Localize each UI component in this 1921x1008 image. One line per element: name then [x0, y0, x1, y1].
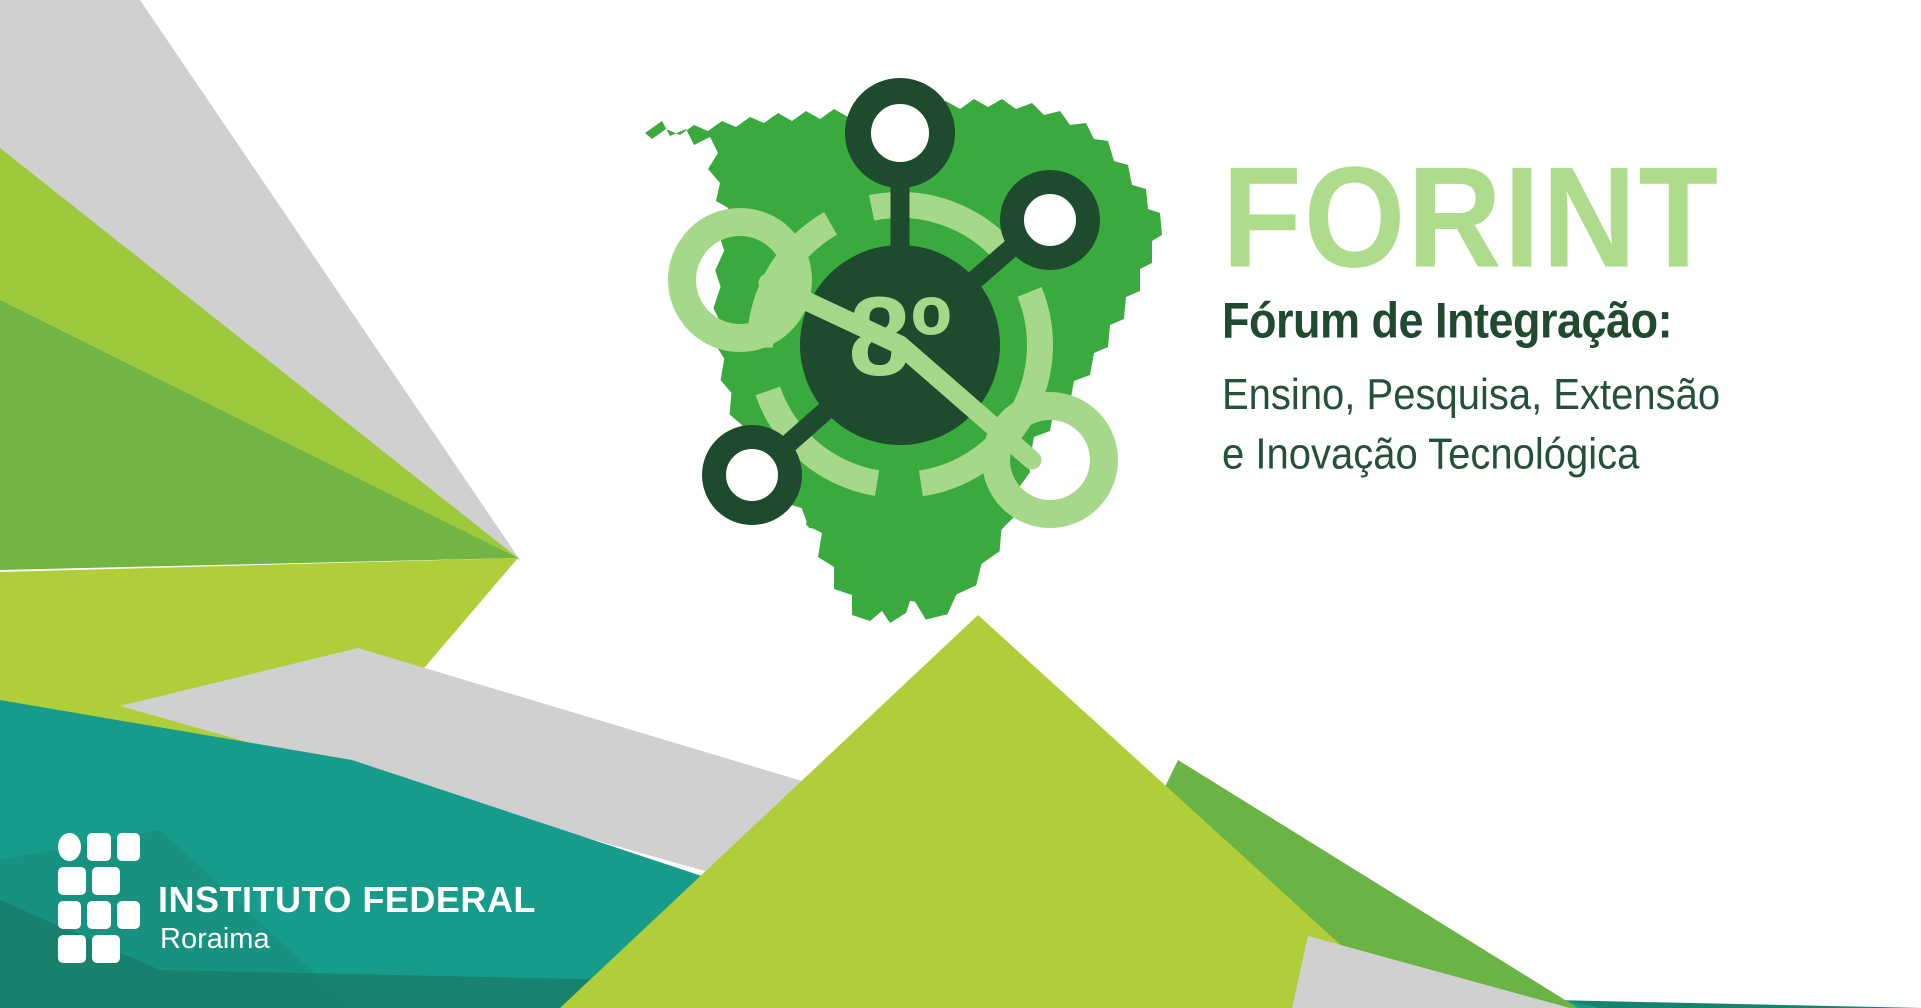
ifrr-logo-circle-cell: [58, 833, 81, 861]
emblem-svg: 8º: [600, 55, 1200, 665]
forint-event-banner: 8º FORINT Fórum de Integração: Ensino, P…: [0, 0, 1921, 1008]
event-title-block: FORINT Fórum de Integração: Ensino, Pesq…: [1222, 150, 1902, 473]
ifrr-logo-cell: [58, 901, 81, 929]
emblem-node-bottom-left: [714, 437, 790, 513]
emblem-node-top: [858, 91, 942, 175]
ifrr-logo-row-3: [58, 901, 140, 929]
ifrr-logo-cell: [87, 901, 110, 929]
forint-emblem: 8º: [600, 55, 1200, 665]
institution-campus: Roraima: [160, 921, 270, 957]
ifrr-logo-cell: [92, 867, 120, 895]
emblem-node-right: [1012, 182, 1088, 258]
institution-logo: INSTITUTO FEDERAL Roraima: [58, 833, 536, 963]
emblem-edition-number: 8º: [848, 274, 951, 399]
institution-name-block: INSTITUTO FEDERAL Roraima: [158, 882, 536, 963]
institution-name: INSTITUTO FEDERAL: [158, 882, 536, 918]
event-acronym: FORINT: [1222, 150, 1916, 286]
ifrr-logo-cell: [117, 833, 140, 861]
ifrr-logo-cell: [117, 901, 140, 929]
ifrr-logo-row-1: [58, 833, 140, 861]
ifrr-grid-logo: [58, 833, 140, 963]
event-description-line-2: e Inovação Tecnológica: [1222, 424, 1902, 483]
ifrr-logo-row-4: [58, 935, 140, 963]
event-description: Ensino, Pesquisa, Extensão e Inovação Te…: [1222, 365, 1902, 484]
ifrr-logo-cell: [87, 833, 110, 861]
ifrr-logo-row-2: [58, 867, 140, 895]
ifrr-logo-cell: [58, 935, 86, 963]
event-description-line-1: Ensino, Pesquisa, Extensão: [1222, 365, 1902, 424]
ifrr-logo-cell: [58, 867, 86, 895]
event-subtitle: Fórum de Integração:: [1222, 294, 1902, 347]
ifrr-logo-cell: [92, 935, 120, 963]
